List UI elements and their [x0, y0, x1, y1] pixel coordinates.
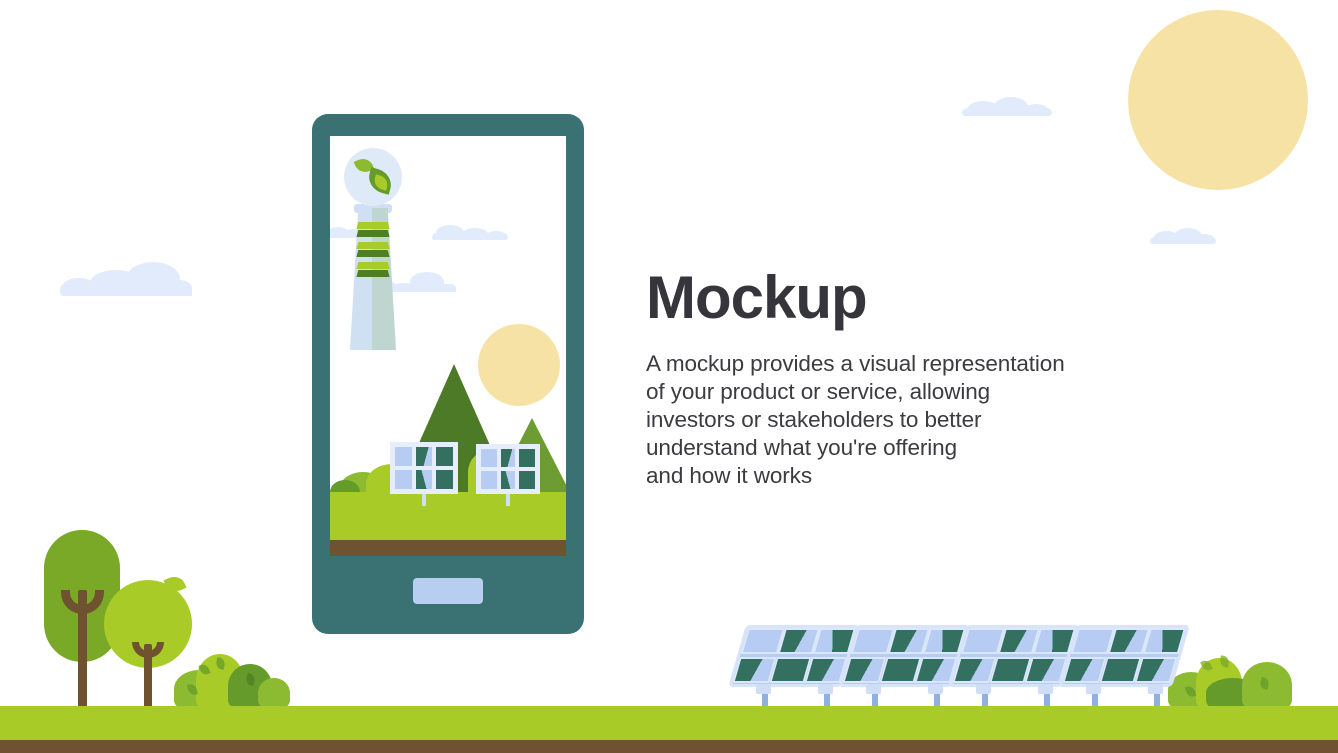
cloud-puff: [994, 97, 1028, 116]
solar-panel-foot: [866, 684, 881, 694]
cloud-left: [60, 258, 192, 296]
solar-cell: [434, 445, 455, 468]
solar-panel-foot: [818, 684, 833, 694]
cloud-puff: [436, 225, 464, 240]
solar-cell: [805, 657, 848, 683]
screen-solar-panel: [390, 442, 458, 494]
solar-cell: [414, 445, 434, 468]
cloud-puff: [1024, 104, 1048, 116]
slide-canvas: Mockup A mockup provides a visual repres…: [0, 0, 1338, 753]
solar-cell: [499, 469, 518, 491]
solar-panel-glass: [952, 628, 1076, 684]
solar-cell: [499, 447, 518, 469]
cloud-lower-right: [1150, 222, 1216, 244]
solar-panel: [736, 628, 854, 706]
screen-cloud: [432, 220, 508, 240]
phone-frame[interactable]: [312, 114, 584, 634]
cloud-puff: [166, 280, 192, 296]
solar-panel: [846, 628, 964, 706]
phone-screen[interactable]: [330, 136, 566, 556]
ground-grass: [0, 706, 1338, 740]
solar-panel-foot: [756, 684, 771, 694]
solar-panel-foot: [976, 684, 991, 694]
solar-cell: [1025, 657, 1068, 683]
solar-cell: [479, 469, 499, 491]
solar-cell: [517, 447, 537, 469]
screen-grass: [330, 492, 566, 540]
cloud-puff: [462, 228, 488, 240]
solar-panel: [956, 628, 1074, 706]
solar-cell: [915, 657, 958, 683]
solar-panel-foot: [1086, 684, 1101, 694]
body-paragraph: A mockup provides a visual representatio…: [646, 350, 1146, 490]
home-indicator[interactable]: [413, 578, 483, 604]
solar-cell: [434, 468, 455, 491]
solar-cell: [393, 468, 414, 491]
solar-panel-foot: [1038, 684, 1053, 694]
solar-panel-glass: [1062, 628, 1186, 684]
solar-panel-foot: [1148, 684, 1163, 694]
solar-cell: [414, 468, 434, 491]
copy-block: Mockup A mockup provides a visual repres…: [646, 268, 1146, 490]
solar-panel-glass: [732, 628, 856, 684]
cloud-puff: [438, 284, 456, 292]
ground-soil: [0, 740, 1338, 753]
screen-solar-panel: [476, 444, 540, 494]
cloud-puff: [486, 231, 506, 240]
solar-panel-foot: [928, 684, 943, 694]
bush-cluster-right: [1168, 644, 1298, 708]
solar-cell: [393, 445, 414, 468]
bush-cluster-left: [174, 644, 290, 708]
solar-panel: [1066, 628, 1184, 706]
solar-cell: [1135, 657, 1178, 683]
cloud-puff: [1196, 234, 1214, 244]
screen-soil: [330, 540, 566, 556]
solar-cell: [517, 469, 537, 491]
solar-cell: [479, 447, 499, 469]
cloud-upper-right: [962, 92, 1052, 116]
page-title: Mockup: [646, 268, 1146, 328]
solar-cell: [1143, 628, 1186, 654]
sun-icon: [1128, 10, 1308, 190]
bush: [258, 678, 290, 708]
solar-panel-glass: [842, 628, 966, 684]
